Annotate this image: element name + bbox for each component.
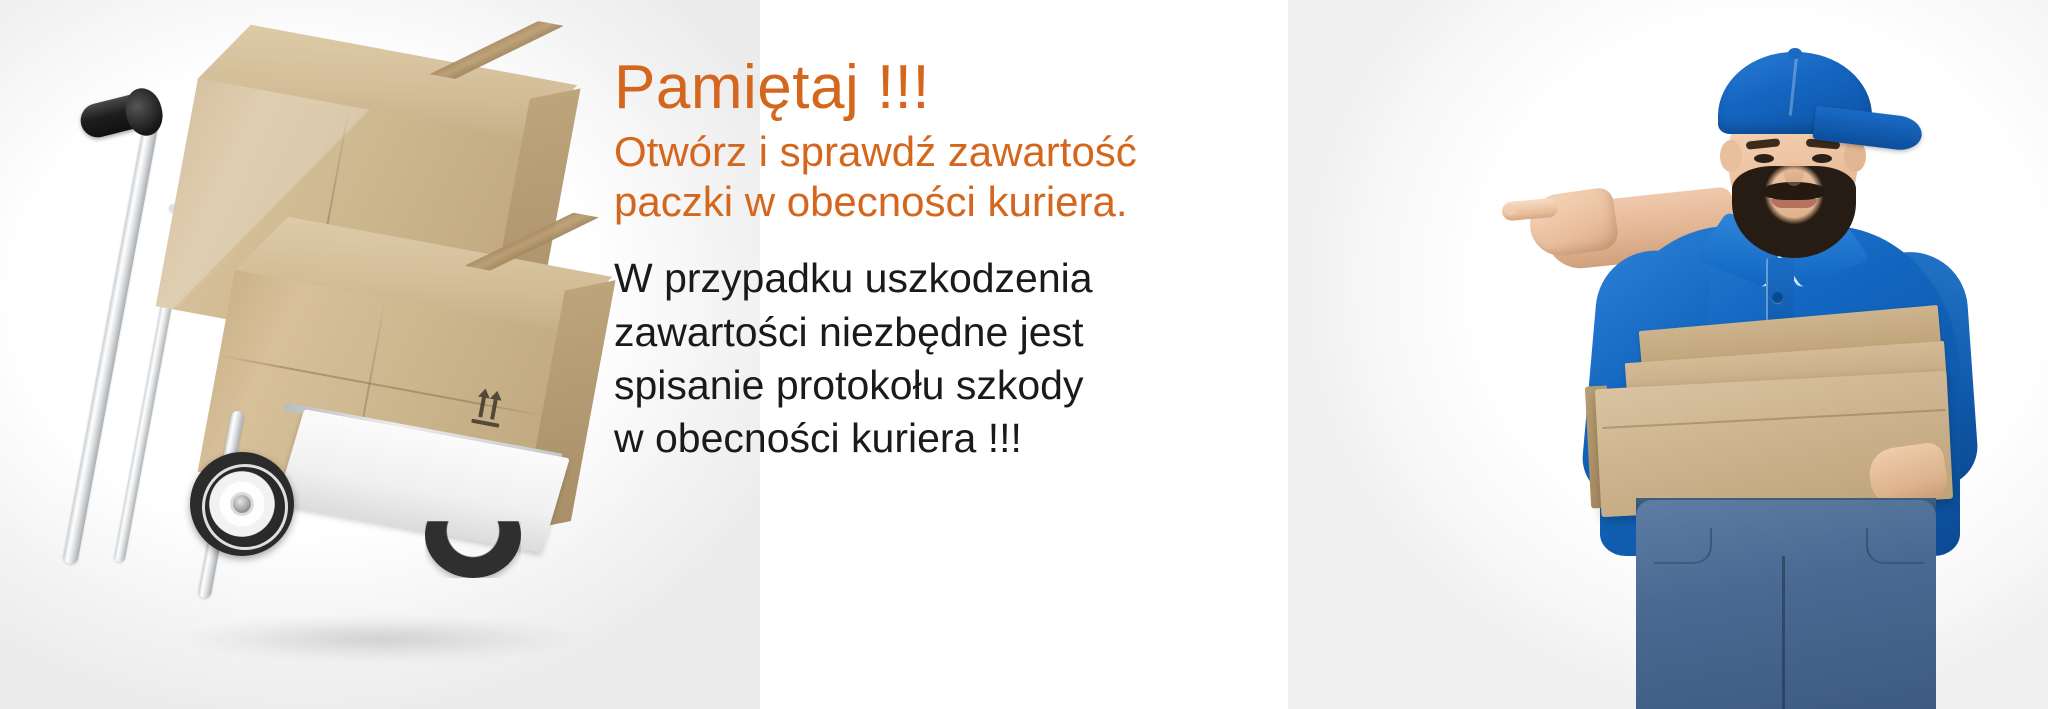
- headline: Pamiętaj !!!: [614, 56, 1184, 119]
- subheading-line-2: paczki w obecności kuriera.: [614, 177, 1184, 227]
- body-line-1: W przypadku uszkodzenia: [614, 252, 1184, 305]
- courier-eye-left: [1754, 154, 1774, 163]
- hand-truck-illustration: [50, 40, 670, 680]
- body-line-3: spisanie protokołu szkody: [614, 359, 1184, 412]
- courier-ear-left: [1720, 140, 1742, 172]
- courier-illustration: [1440, 0, 2048, 709]
- subheading-line-1: Otwórz i sprawdź zawartość: [614, 127, 1184, 177]
- courier-pointing-hand: [1526, 186, 1620, 259]
- hand-truck-rail-main: [62, 110, 161, 565]
- courier-shirt-button: [1772, 292, 1783, 303]
- courier-fingernail: [1504, 204, 1517, 215]
- hand-truck-grip-cap: [121, 84, 168, 139]
- courier-nose: [1784, 160, 1804, 186]
- courier-jeans-pocket-left: [1654, 528, 1712, 564]
- hand-truck-wheel-rim: [202, 464, 288, 550]
- courier-jeans-seam: [1782, 556, 1785, 709]
- courier-cap-button: [1788, 48, 1802, 59]
- body-line-2: zawartości niezbędne jest: [614, 306, 1184, 359]
- body-block: W przypadku uszkodzenia zawartości niezb…: [614, 252, 1184, 465]
- subheading-block: Otwórz i sprawdź zawartość paczki w obec…: [614, 127, 1184, 226]
- courier-jeans-pocket-right: [1866, 528, 1924, 564]
- message-block: Pamiętaj !!! Otwórz i sprawdź zawartość …: [614, 56, 1184, 466]
- this-way-up-icon: [463, 381, 512, 432]
- body-line-4: w obecności kuriera !!!: [614, 412, 1184, 465]
- delivery-notice-banner: Pamiętaj !!! Otwórz i sprawdź zawartość …: [0, 0, 2048, 709]
- courier-eye-right: [1812, 154, 1832, 163]
